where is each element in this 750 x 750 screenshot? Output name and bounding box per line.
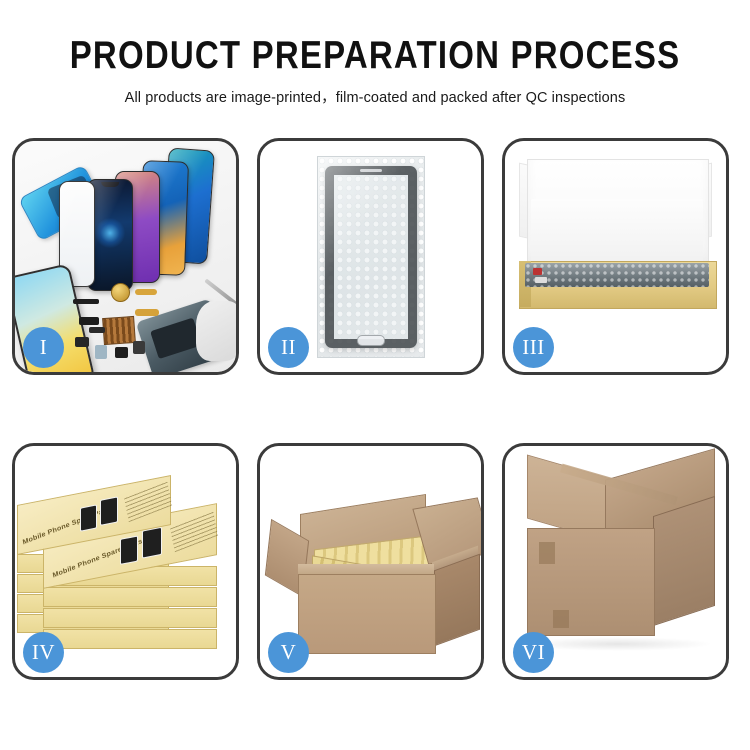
small-component-part bbox=[115, 347, 128, 358]
bubble-wrap-sheet bbox=[317, 156, 425, 358]
foam-padding bbox=[531, 199, 703, 265]
step-badge-1: I bbox=[23, 327, 64, 368]
page-title: PRODUCT PREPARATION PROCESS bbox=[0, 34, 750, 77]
carton-tape-patch bbox=[553, 610, 569, 628]
small-component-part bbox=[95, 345, 107, 359]
step-badge-2: II bbox=[268, 327, 309, 368]
small-component-part bbox=[133, 341, 145, 354]
hand-silhouette bbox=[196, 301, 236, 361]
carton-tape-patch bbox=[539, 542, 555, 564]
carton-side-panel bbox=[653, 496, 715, 626]
page-header: PRODUCT PREPARATION PROCESS All products… bbox=[0, 0, 750, 107]
stacked-box bbox=[43, 629, 217, 649]
phone-screen-assembly bbox=[325, 166, 417, 348]
step-panel-2: II bbox=[257, 138, 484, 375]
stacked-box bbox=[43, 587, 217, 607]
home-button bbox=[357, 335, 385, 346]
step-badge-4: IV bbox=[23, 632, 64, 673]
flex-cable-part bbox=[73, 299, 99, 304]
step-badge-3: III bbox=[513, 327, 554, 368]
carton-front-panel bbox=[298, 574, 436, 654]
box-print-screen bbox=[120, 535, 138, 564]
connector-grid-part bbox=[102, 316, 136, 345]
earpiece-slot bbox=[360, 169, 382, 172]
step-panel-3: III bbox=[502, 138, 729, 375]
product-preparation-infographic: PRODUCT PREPARATION PROCESS All products… bbox=[0, 0, 750, 750]
wrapped-screen-in-box bbox=[525, 263, 709, 287]
step-panel-6: VI bbox=[502, 443, 729, 680]
stacked-box bbox=[43, 608, 217, 628]
box-print-screen bbox=[80, 504, 97, 531]
label-sticker-red bbox=[533, 268, 542, 275]
small-component-part bbox=[75, 337, 89, 347]
box-print-textlines bbox=[170, 511, 218, 552]
flex-cable-part bbox=[79, 317, 99, 325]
flex-cable-part bbox=[89, 327, 105, 333]
box-print-screen bbox=[142, 527, 162, 559]
flex-cable-part bbox=[135, 289, 157, 295]
step-badge-5: V bbox=[268, 632, 309, 673]
step-panel-4: Mobile Phone Spare Parts Mobile Phone Sp… bbox=[12, 443, 239, 680]
label-sticker-white bbox=[535, 277, 547, 283]
vibration-motor-part bbox=[111, 283, 130, 302]
step-badge-6: VI bbox=[513, 632, 554, 673]
process-steps-grid: I II bbox=[12, 138, 738, 680]
box-print-textlines bbox=[124, 481, 172, 522]
flex-cable-part bbox=[135, 309, 159, 316]
step-panel-5: V bbox=[257, 443, 484, 680]
step-panel-1: I bbox=[12, 138, 239, 375]
box-print-screen bbox=[100, 496, 118, 525]
